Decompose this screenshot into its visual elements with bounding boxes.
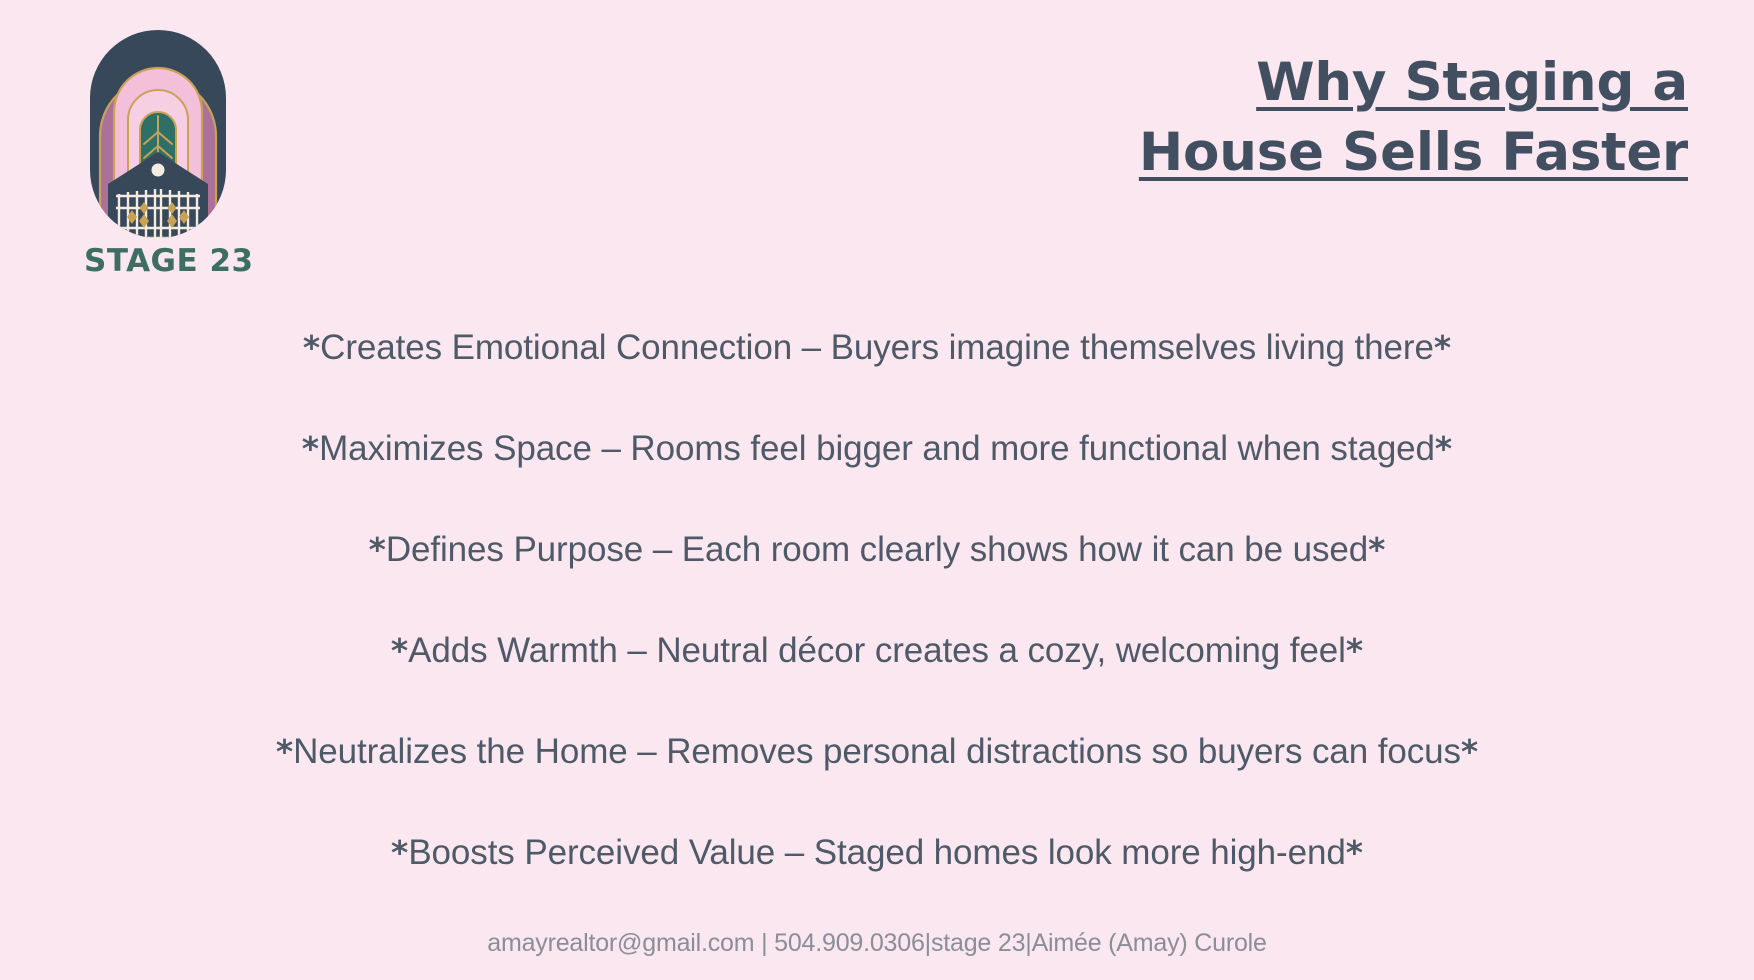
asterisk-marker-end: * xyxy=(1461,732,1478,771)
list-item-label: Maximizes Space – Rooms feel bigger and … xyxy=(319,429,1435,468)
list-item-label: Boosts Perceived Value – Staged homes lo… xyxy=(408,833,1345,872)
list-item: *Creates Emotional Connection – Buyers i… xyxy=(0,330,1754,431)
asterisk-marker-start: * xyxy=(391,833,408,872)
asterisk-marker-start: * xyxy=(369,530,386,569)
list-item-label: Adds Warmth – Neutral décor creates a co… xyxy=(408,631,1346,670)
asterisk-marker-end: * xyxy=(1435,429,1452,468)
asterisk-marker-start: * xyxy=(303,328,320,367)
title-line-1-text: Why Staging a xyxy=(1256,52,1688,113)
list-item-label: Creates Emotional Connection – Buyers im… xyxy=(320,328,1434,367)
brand-wordmark: STAGE 23 xyxy=(82,246,308,277)
list-item: *Neutralizes the Home – Removes personal… xyxy=(0,734,1754,835)
list-item-label: Neutralizes the Home – Removes personal … xyxy=(293,732,1461,771)
list-item: *Defines Purpose – Each room clearly sho… xyxy=(0,532,1754,633)
asterisk-marker-start: * xyxy=(302,429,319,468)
asterisk-marker-end: * xyxy=(1368,530,1385,569)
list-item-label: Defines Purpose – Each room clearly show… xyxy=(386,530,1368,569)
slide-title: Why Staging a House Sells Faster xyxy=(788,48,1688,188)
title-line-2-text: House Sells Faster xyxy=(1139,122,1688,183)
list-item: *Adds Warmth – Neutral décor creates a c… xyxy=(0,633,1754,734)
stage23-arch-gate-logo-icon xyxy=(88,28,228,240)
title-line-2: House Sells Faster xyxy=(788,118,1688,188)
asterisk-marker-start: * xyxy=(276,732,293,771)
benefits-list: *Creates Emotional Connection – Buyers i… xyxy=(0,330,1754,936)
list-item: *Boosts Perceived Value – Staged homes l… xyxy=(0,835,1754,936)
slide-canvas: STAGE 23 Why Staging a House Sells Faste… xyxy=(0,0,1754,980)
asterisk-marker-start: * xyxy=(391,631,408,670)
title-line-1: Why Staging a xyxy=(788,48,1688,118)
asterisk-marker-end: * xyxy=(1434,328,1451,367)
asterisk-marker-end: * xyxy=(1346,631,1363,670)
contact-footer: amayrealtor@gmail.com | 504.909.0306|sta… xyxy=(0,929,1754,958)
list-item: *Maximizes Space – Rooms feel bigger and… xyxy=(0,431,1754,532)
asterisk-marker-end: * xyxy=(1346,833,1363,872)
brand-logo-block: STAGE 23 xyxy=(78,28,308,277)
